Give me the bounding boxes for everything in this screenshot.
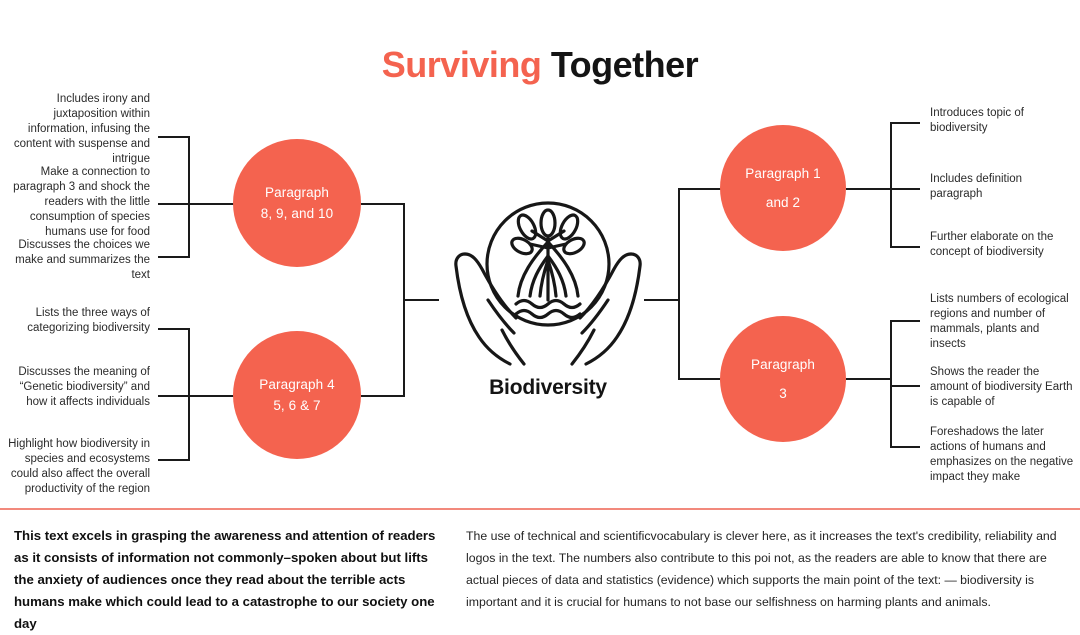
- connector-right-2-note2: [890, 385, 920, 387]
- note-right-1-2: Includes definition paragraph: [930, 172, 1076, 202]
- circle-paragraph-1-and-2[interactable]: Paragraph 1 and 2: [720, 125, 846, 251]
- bracket-right-inner-vertical: [678, 188, 680, 380]
- circle-paragraph-8-9-10[interactable]: Paragraph 8, 9, and 10: [233, 139, 361, 267]
- note-right-1-1: Introduces topic of biodiversity: [930, 106, 1076, 136]
- hands-holding-plant-icon: [432, 196, 664, 376]
- connector-right-circle1-in: [678, 188, 722, 190]
- section-divider: [0, 508, 1080, 510]
- circle-label-line1: Paragraph: [265, 182, 329, 203]
- connector-left-2-to-circle: [188, 395, 236, 397]
- connector-right-2-to-bracket: [846, 378, 892, 380]
- note-left-2-3: Highlight how biodiversity in species an…: [0, 437, 150, 497]
- circle-label-line1: Paragraph: [751, 354, 815, 375]
- infographic-page: Surviving Together Includes irony and ju…: [0, 0, 1080, 608]
- note-right-2-3: Foreshadows the later actions of humans …: [930, 425, 1080, 485]
- circle-label-line1: Paragraph 4: [259, 374, 334, 395]
- connector-left-2-note1: [158, 328, 190, 330]
- connector-right-1-to-bracket: [846, 188, 892, 190]
- note-right-2-1: Lists numbers of ecological regions and …: [930, 292, 1076, 352]
- center-label: Biodiversity: [432, 376, 664, 400]
- connector-right-2-note1: [890, 320, 920, 322]
- connector-left-circle2-out: [361, 395, 405, 397]
- connector-right-circle2-in: [678, 378, 722, 380]
- footer-left-column: This text excels in grasping the awarene…: [0, 516, 462, 608]
- circle-label-line2: 8, 9, and 10: [261, 203, 334, 224]
- connector-left-1-note2: [158, 203, 190, 205]
- note-right-1-3: Further elaborate on the concept of biod…: [930, 230, 1078, 260]
- note-left-1-2: Make a connection to paragraph 3 and sho…: [2, 165, 150, 240]
- circle-label-line2: 3: [779, 383, 787, 404]
- note-left-1-1: Includes irony and juxtaposition within …: [2, 92, 150, 167]
- footer-left-text: This text excels in grasping the awarene…: [14, 525, 448, 635]
- connector-right-1-note2: [890, 188, 920, 190]
- bracket-left-1-vertical: [188, 136, 190, 258]
- connector-left-1-to-circle: [188, 203, 236, 205]
- circle-label-line2: and 2: [766, 192, 800, 213]
- connector-right-inner-from-hub: [644, 299, 680, 301]
- connector-left-2-note2: [158, 395, 190, 397]
- note-left-2-2: Discusses the meaning of “Genetic biodiv…: [2, 365, 150, 410]
- bracket-right-2-vertical: [890, 320, 892, 447]
- center-hub: Biodiversity: [432, 196, 664, 411]
- circle-label-line1: Paragraph 1: [745, 163, 820, 184]
- connector-left-2-note3: [158, 459, 190, 461]
- bracket-right-1-vertical: [890, 122, 892, 248]
- footer-right-column: The use of technical and scientificvocab…: [462, 516, 1080, 608]
- note-left-1-3: Discusses the choices we make and summar…: [2, 238, 150, 283]
- circle-label-line2: 5, 6 & 7: [273, 395, 320, 416]
- diagram-canvas: Includes irony and juxtaposition within …: [0, 0, 1080, 508]
- connector-right-1-note1: [890, 122, 920, 124]
- connector-left-1-note1: [158, 136, 190, 138]
- connector-left-circle1-out: [361, 203, 405, 205]
- note-right-2-2: Shows the reader the amount of biodivers…: [930, 365, 1076, 410]
- connector-left-1-note3: [158, 256, 190, 258]
- footer-commentary: This text excels in grasping the awarene…: [0, 516, 1080, 608]
- connector-right-1-note3: [890, 246, 920, 248]
- circle-paragraph-4-5-6-7[interactable]: Paragraph 4 5, 6 & 7: [233, 331, 361, 459]
- note-left-2-1: Lists the three ways of categorizing bio…: [2, 306, 150, 336]
- circle-paragraph-3[interactable]: Paragraph 3: [720, 316, 846, 442]
- footer-right-text: The use of technical and scientificvocab…: [466, 525, 1066, 613]
- connector-right-2-note3: [890, 446, 920, 448]
